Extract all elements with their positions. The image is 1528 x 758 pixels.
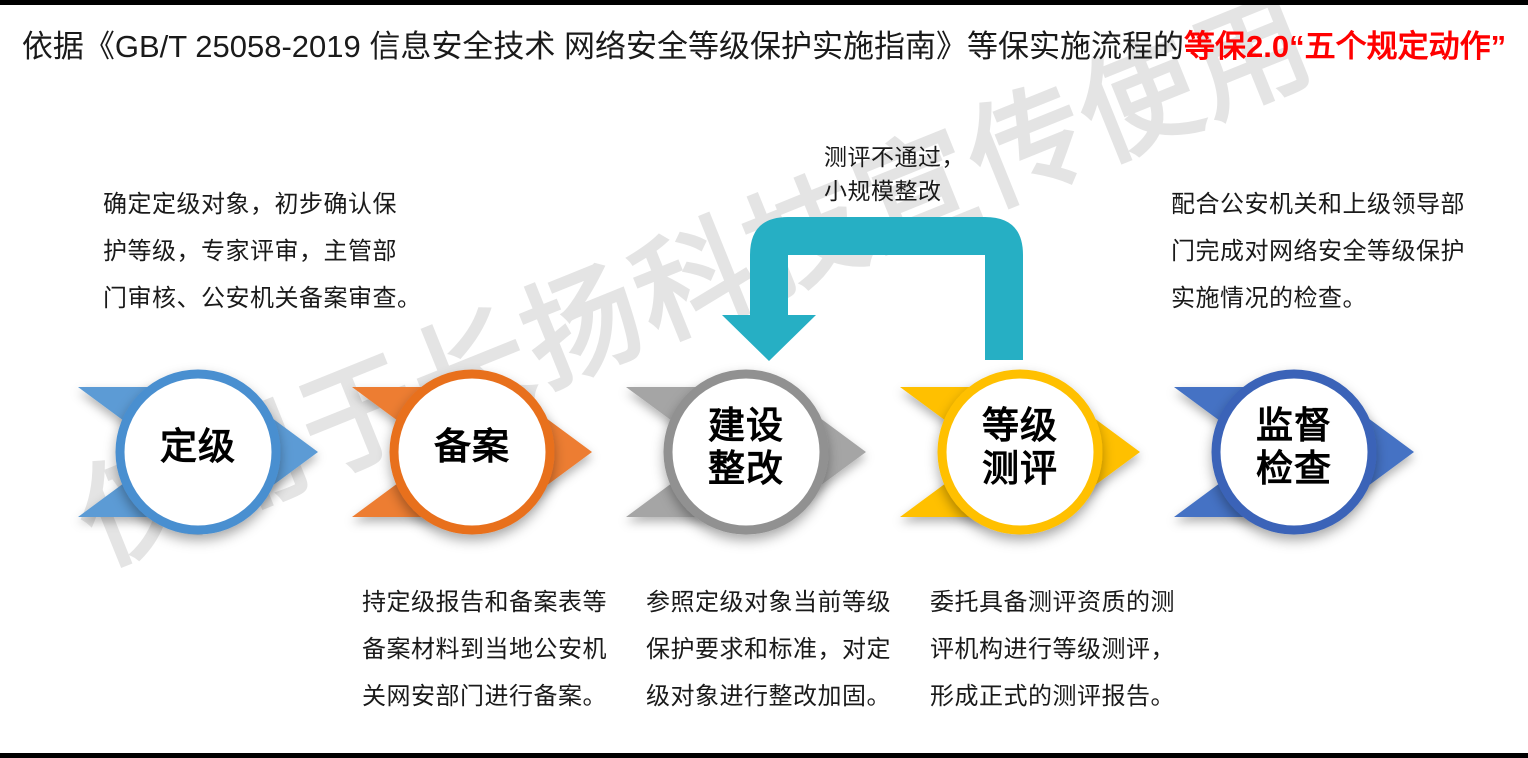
note-beian-description: 持定级报告和备案表等 备案材料到当地公安机 关网安部门进行备案。	[362, 579, 607, 720]
page-title: 依据《GB/T 25058-2019 信息安全技术 网络安全等级保护实施指南》等…	[0, 27, 1528, 67]
note-dingji-line1: 确定定级对象，初步确认保	[103, 181, 422, 228]
note-jianshe-line2: 保护要求和标准，对定	[646, 626, 891, 673]
stage-label-jianshe-line1: 建设	[696, 404, 796, 447]
stage-label-dingji-line1: 定级	[148, 425, 248, 468]
stage-label-beian-line1: 备案	[422, 425, 522, 468]
note-dengjiceping-line3: 形成正式的测评报告。	[930, 673, 1175, 720]
note-jianshe-description: 参照定级对象当前等级 保护要求和标准，对定 级对象进行整改加固。	[646, 579, 891, 720]
note-jiandu-line2: 门完成对网络安全等级保护	[1171, 228, 1465, 275]
note-dengjiceping-description: 委托具备测评资质的测 评机构进行等级测评， 形成正式的测评报告。	[930, 579, 1175, 720]
stage-label-jiandu: 监督 检查	[1244, 404, 1344, 490]
note-dingji-line3: 门审核、公安机关备案审查。	[103, 275, 422, 322]
note-dengjiceping-line1: 委托具备测评资质的测	[930, 579, 1175, 626]
stage-label-dengjiceping-line1: 等级	[970, 404, 1070, 447]
feedback-loop-arrow	[700, 195, 1060, 365]
note-loop-description: 测评不通过， 小规模整改	[824, 140, 965, 208]
note-jianshe-line1: 参照定级对象当前等级	[646, 579, 891, 626]
stage-label-jianshe-line2: 整改	[696, 447, 796, 490]
note-jianshe-line3: 级对象进行整改加固。	[646, 673, 891, 720]
stage-label-dengjiceping: 等级 测评	[970, 404, 1070, 490]
note-loop-line1: 测评不通过，	[824, 140, 965, 174]
stage-label-dingji: 定级	[148, 425, 248, 468]
stage-label-jianshe: 建设 整改	[696, 404, 796, 490]
note-beian-line2: 备案材料到当地公安机	[362, 626, 607, 673]
note-jiandu-line3: 实施情况的检查。	[1171, 275, 1465, 322]
note-jiandu-description: 配合公安机关和上级领导部 门完成对网络安全等级保护 实施情况的检查。	[1171, 181, 1465, 322]
note-dingji-line2: 护等级，专家评审，主管部	[103, 228, 422, 275]
note-dengjiceping-line2: 评机构进行等级测评，	[930, 626, 1175, 673]
note-jiandu-line1: 配合公安机关和上级领导部	[1171, 181, 1465, 228]
stage-label-dengjiceping-line2: 测评	[970, 447, 1070, 490]
note-loop-line2: 小规模整改	[824, 174, 965, 208]
note-dingji-description: 确定定级对象，初步确认保 护等级，专家评审，主管部 门审核、公安机关备案审查。	[103, 181, 422, 322]
title-prefix: 依据《GB/T 25058-2019 信息安全技术 网络安全等级保护实施指南》等…	[22, 29, 1184, 64]
loop-arrow-path	[722, 217, 1023, 361]
stage-label-jiandu-line1: 监督	[1244, 404, 1344, 447]
diagram-canvas: 仅用于长扬科技宣传使用 依据《GB/T 25058-2019 信息安全技术 网络…	[0, 0, 1528, 758]
note-beian-line3: 关网安部门进行备案。	[362, 673, 607, 720]
stage-label-jiandu-line2: 检查	[1244, 447, 1344, 490]
stage-label-beian: 备案	[422, 425, 522, 468]
note-beian-line1: 持定级报告和备案表等	[362, 579, 607, 626]
title-accent: 等保2.0“五个规定动作”	[1184, 29, 1506, 64]
